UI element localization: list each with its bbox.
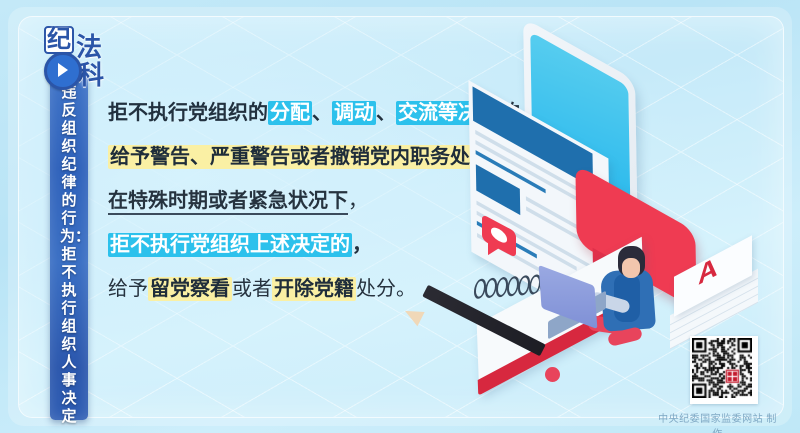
poster-canvas: 违反组织纪律的行为：拒不执行组织人事决定 纪 法 科 拒不执行党组织的分配、调动…: [0, 0, 800, 433]
credit-text: 中央纪委国家监委网站 制作: [655, 410, 780, 433]
line1-separator-2: 、: [376, 102, 396, 124]
line5-segment-1: 给予: [108, 278, 148, 300]
qr-code[interactable]: [690, 336, 758, 404]
logo-glyph-ji: 纪: [44, 26, 74, 54]
line4-highlight: 拒不执行党组织上述决定的: [108, 233, 352, 257]
play-icon: [44, 52, 82, 90]
line5-highlight-2: 开除党籍: [272, 277, 356, 301]
line5-highlight-1: 留党察看: [148, 277, 232, 301]
qr-code-image: [692, 338, 752, 398]
pencil-eraser: [545, 367, 560, 382]
bubble-dot: [491, 225, 507, 246]
line1-highlight-1: 分配: [268, 101, 312, 125]
ribbon-title: 违反组织纪律的行为：拒不执行组织人事决定: [50, 84, 88, 426]
line1-separator-1: 、: [312, 102, 332, 124]
person-face: [622, 258, 640, 278]
title-ribbon: 违反组织纪律的行为：拒不执行组织人事决定: [50, 70, 88, 420]
program-logo: 纪 法 科: [40, 24, 124, 90]
logo-glyph-fa: 法: [76, 34, 102, 60]
line1-highlight-2: 调动: [332, 101, 376, 125]
line1-segment-1: 拒不执行党组织的: [108, 102, 268, 124]
line5-segment-2: 或者: [232, 278, 272, 300]
logo-glyph-ke: 科: [78, 62, 104, 88]
line3-tail: ，: [348, 190, 368, 212]
line3-underlined: 在特殊时期或者紧急状况下: [108, 190, 348, 215]
line4-tail: ，: [352, 234, 372, 256]
line5-segment-3: 处分。: [356, 278, 416, 300]
